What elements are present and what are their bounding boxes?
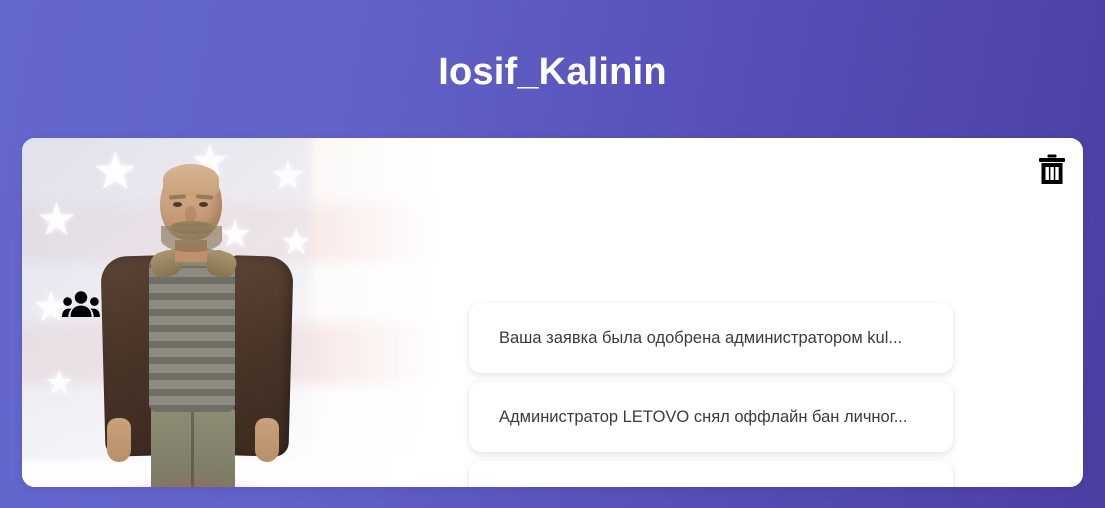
group-users-icon[interactable] [62,290,100,320]
notification-item[interactable]: Администратор LETOVO выдал оффлайн бан л… [469,461,953,487]
trash-icon[interactable] [1037,154,1067,186]
notifications-list: Ваша заявка была одобрена администраторо… [469,303,953,487]
character-eye-right [199,202,208,207]
notification-text: Администратор LETOVO снял оффлайн бан ли… [499,406,907,428]
page-title: Iosif_Kalinin [0,49,1105,95]
notification-item[interactable]: Ваша заявка была одобрена администраторо… [469,303,953,373]
notification-text: Ваша заявка была одобрена администраторо… [499,327,902,349]
character-scalp [163,164,219,196]
character-nose [185,206,196,222]
character-hand-left [107,418,131,462]
character-eye-left [173,202,182,207]
flag-star-icon: ★ [36,196,77,242]
page-root: Iosif_Kalinin ★ ★ ★ ★ ★ ★ ★ ★ [0,0,1105,508]
character-hand-right [255,418,279,462]
flag-star-icon: ★ [44,366,74,400]
character-beard [161,226,222,252]
player-character-avatar [77,148,317,487]
notification-item[interactable]: Администратор LETOVO снял оффлайн бан ли… [469,382,953,452]
profile-panel: ★ ★ ★ ★ ★ ★ ★ ★ [22,138,1083,487]
character-leg-split [191,410,194,487]
backdrop-fade [292,138,452,487]
notification-text: Администратор LETOVO выдал оффлайн бан л… [499,485,917,487]
